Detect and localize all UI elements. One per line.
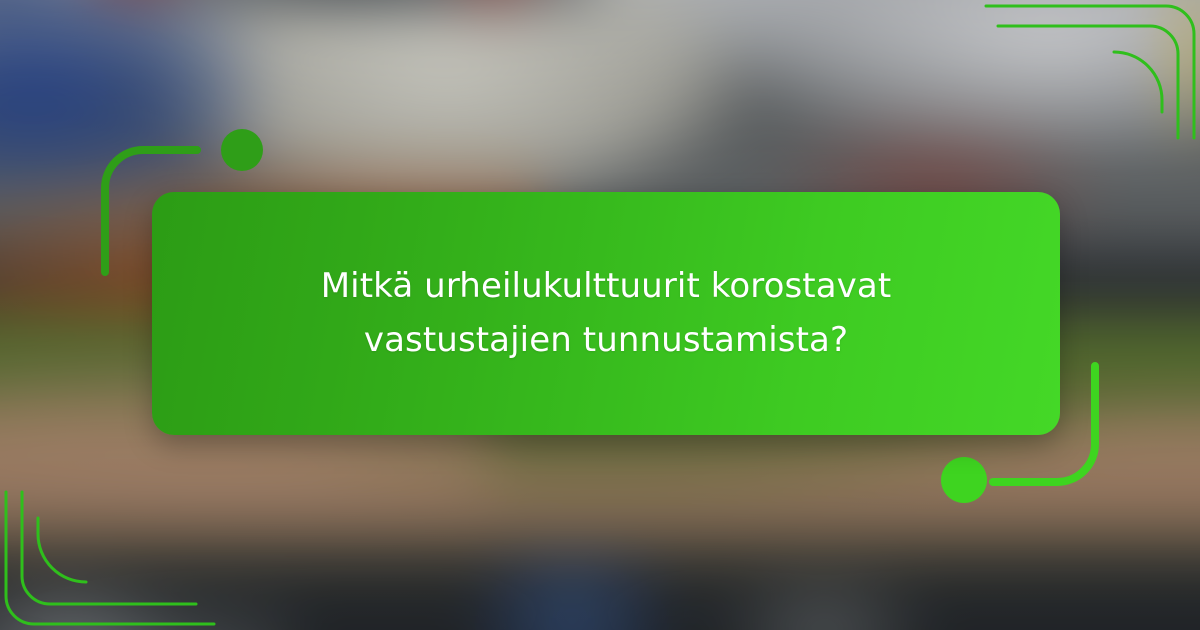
poster-canvas: Mitkä urheilukulttuurit korostavat vastu… xyxy=(0,0,1200,630)
dot-bottom-right-icon xyxy=(941,457,987,503)
dot-top-left-icon xyxy=(221,129,263,171)
question-card: Mitkä urheilukulttuurit korostavat vastu… xyxy=(152,192,1060,435)
question-text: Mitkä urheilukulttuurit korostavat vastu… xyxy=(286,260,926,367)
